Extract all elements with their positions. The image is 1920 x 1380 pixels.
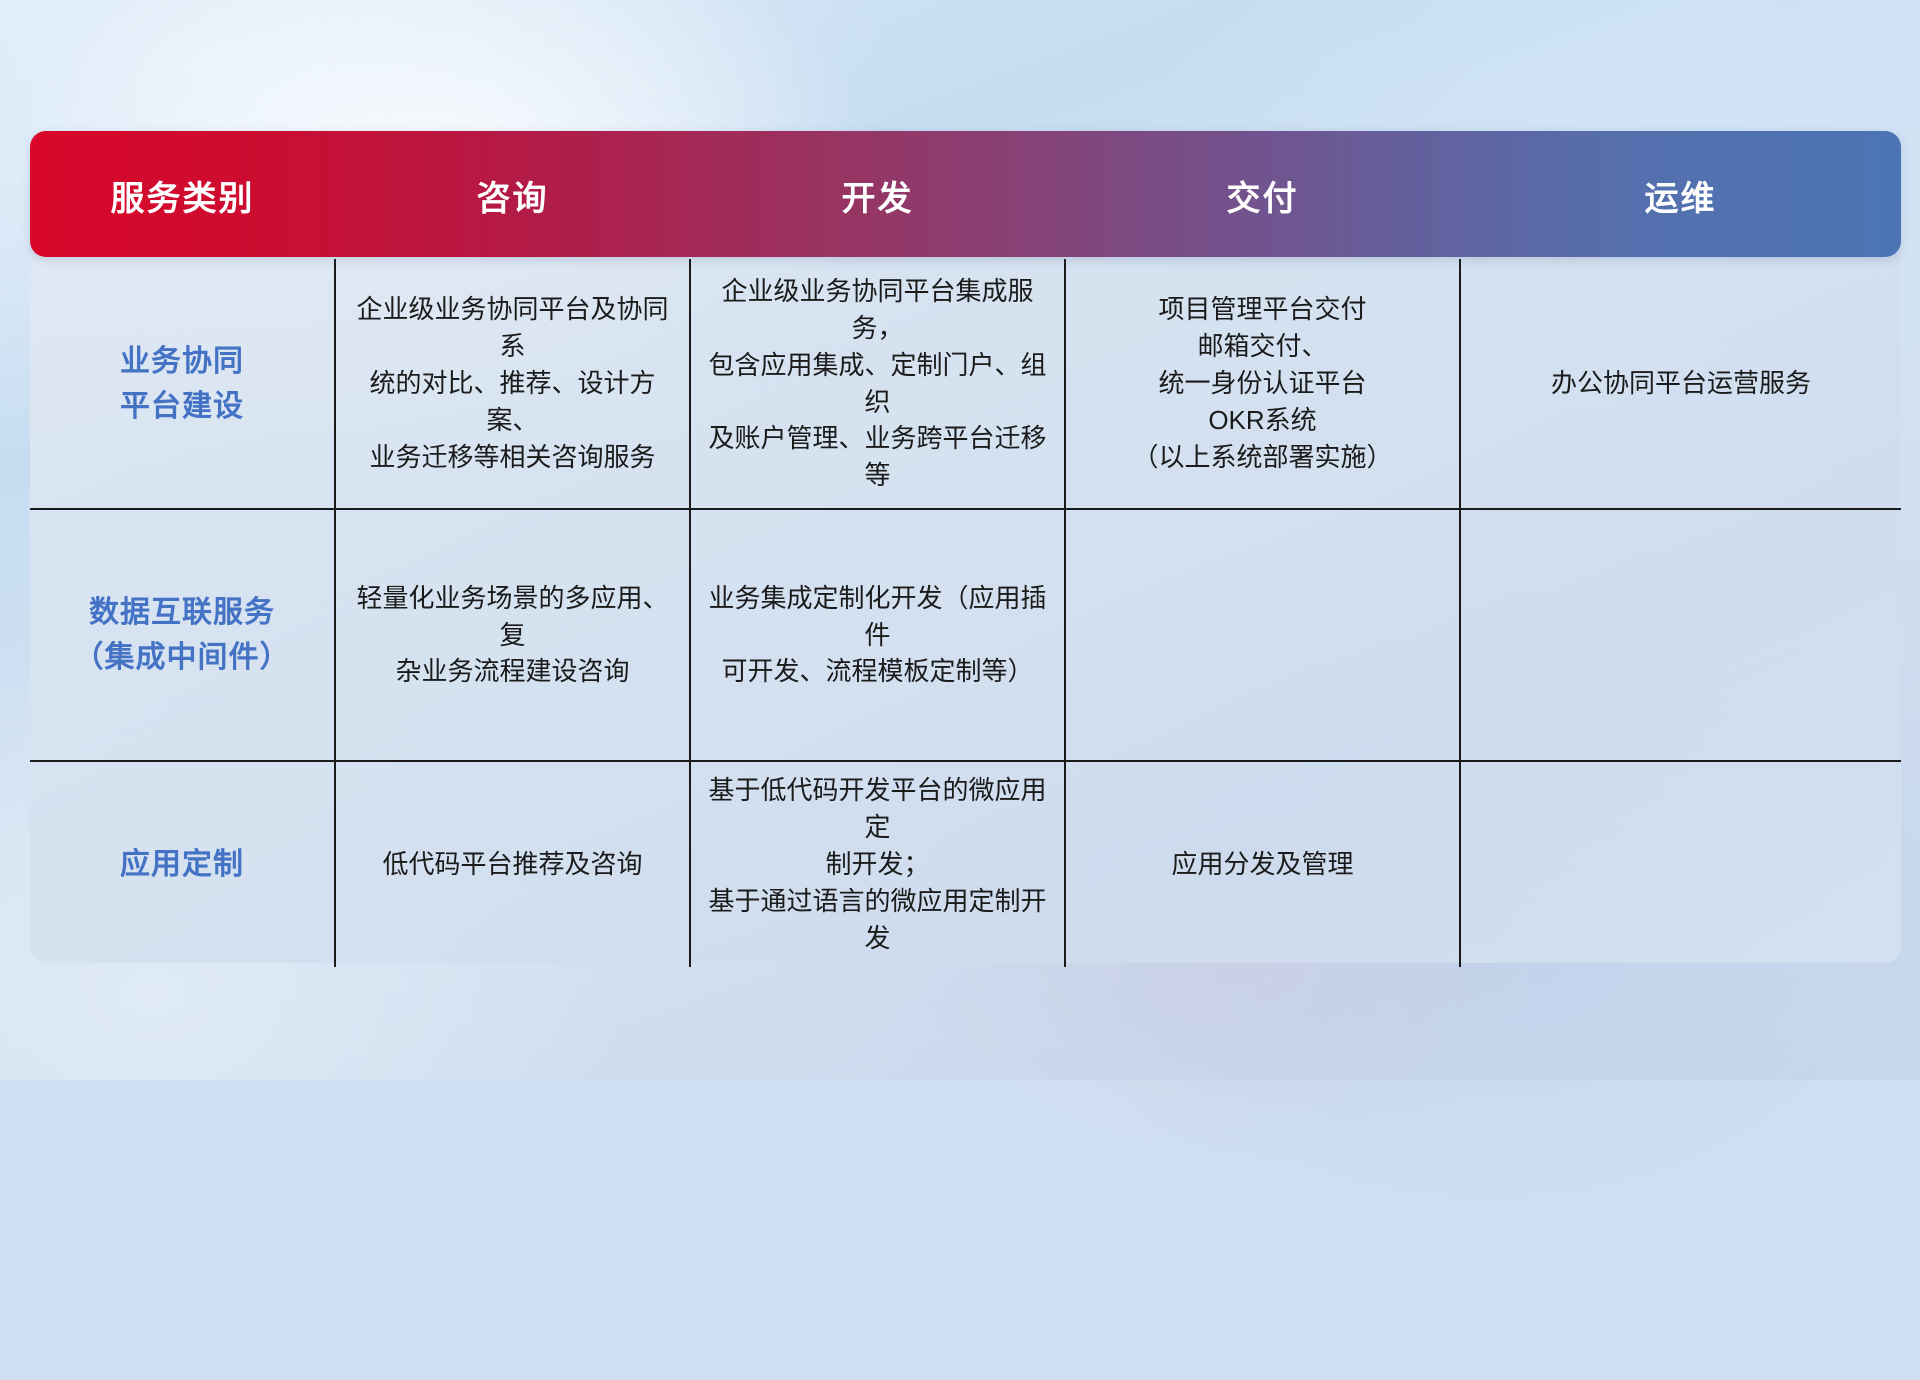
cell-text: 低代码平台推荐及咨询 <box>350 846 675 883</box>
table-row: 业务协同 平台建设 企业级业务协同平台及协同系 统的对比、推荐、设计方案、 业务… <box>30 259 1901 509</box>
cell-text: 业务协同 平台建设 <box>44 339 320 429</box>
table-header: 服务类别 咨询 开发 交付 运维 <box>30 131 1901 259</box>
cell-consulting: 企业级业务协同平台及协同系 统的对比、推荐、设计方案、 业务迁移等相关咨询服务 <box>335 259 690 509</box>
cell-delivery <box>1065 509 1460 761</box>
table-body: 业务协同 平台建设 企业级业务协同平台及协同系 统的对比、推荐、设计方案、 业务… <box>30 259 1901 967</box>
row-category-label: 业务协同 平台建设 <box>30 259 335 509</box>
cell-delivery: 应用分发及管理 <box>1065 761 1460 967</box>
cell-text: 轻量化业务场景的多应用、复 杂业务流程建设咨询 <box>350 580 675 691</box>
cell-text: 企业级业务协同平台集成服务， 包含应用集成、定制门户、组织 及账户管理、业务跨平… <box>705 273 1050 494</box>
cell-development: 业务集成定制化开发（应用插件 可开发、流程模板定制等） <box>690 509 1065 761</box>
service-matrix-table: 服务类别 咨询 开发 交付 运维 业务协同 平台建设 企业级业务协同平台及协同系… <box>30 131 1901 967</box>
cell-text: 项目管理平台交付 邮箱交付、 统一身份认证平台 OKR系统 （以上系统部署实施） <box>1080 291 1445 476</box>
cell-operations <box>1460 509 1901 761</box>
cell-text: 数据互联服务 （集成中间件） <box>44 590 320 680</box>
table-row: 数据互联服务 （集成中间件） 轻量化业务场景的多应用、复 杂业务流程建设咨询 业… <box>30 509 1901 761</box>
cell-text: 基于低代码开发平台的微应用定 制开发； 基于通过语言的微应用定制开发 <box>705 772 1050 957</box>
column-header-category[interactable]: 服务类别 <box>30 131 335 259</box>
cell-consulting: 低代码平台推荐及咨询 <box>335 761 690 967</box>
column-header-delivery[interactable]: 交付 <box>1065 131 1460 259</box>
row-category-label: 数据互联服务 （集成中间件） <box>30 509 335 761</box>
table-row: 应用定制 低代码平台推荐及咨询 基于低代码开发平台的微应用定 制开发； 基于通过… <box>30 761 1901 967</box>
column-header-operations[interactable]: 运维 <box>1460 131 1901 259</box>
cell-text: 企业级业务协同平台及协同系 统的对比、推荐、设计方案、 业务迁移等相关咨询服务 <box>350 291 675 476</box>
cell-text: 应用定制 <box>44 842 320 887</box>
cell-text: 应用分发及管理 <box>1080 846 1445 883</box>
cell-delivery: 项目管理平台交付 邮箱交付、 统一身份认证平台 OKR系统 （以上系统部署实施） <box>1065 259 1460 509</box>
cell-development: 基于低代码开发平台的微应用定 制开发； 基于通过语言的微应用定制开发 <box>690 761 1065 967</box>
cell-text: 业务集成定制化开发（应用插件 可开发、流程模板定制等） <box>705 580 1050 691</box>
row-category-label: 应用定制 <box>30 761 335 967</box>
cell-operations <box>1460 761 1901 967</box>
column-header-consulting[interactable]: 咨询 <box>335 131 690 259</box>
cell-development: 企业级业务协同平台集成服务， 包含应用集成、定制门户、组织 及账户管理、业务跨平… <box>690 259 1065 509</box>
header-row: 服务类别 咨询 开发 交付 运维 <box>30 131 1901 259</box>
cell-text: 办公协同平台运营服务 <box>1475 365 1887 402</box>
cell-consulting: 轻量化业务场景的多应用、复 杂业务流程建设咨询 <box>335 509 690 761</box>
cell-operations: 办公协同平台运营服务 <box>1460 259 1901 509</box>
column-header-development[interactable]: 开发 <box>690 131 1065 259</box>
service-matrix-table-wrapper: 服务类别 咨询 开发 交付 运维 业务协同 平台建设 企业级业务协同平台及协同系… <box>30 131 1901 963</box>
